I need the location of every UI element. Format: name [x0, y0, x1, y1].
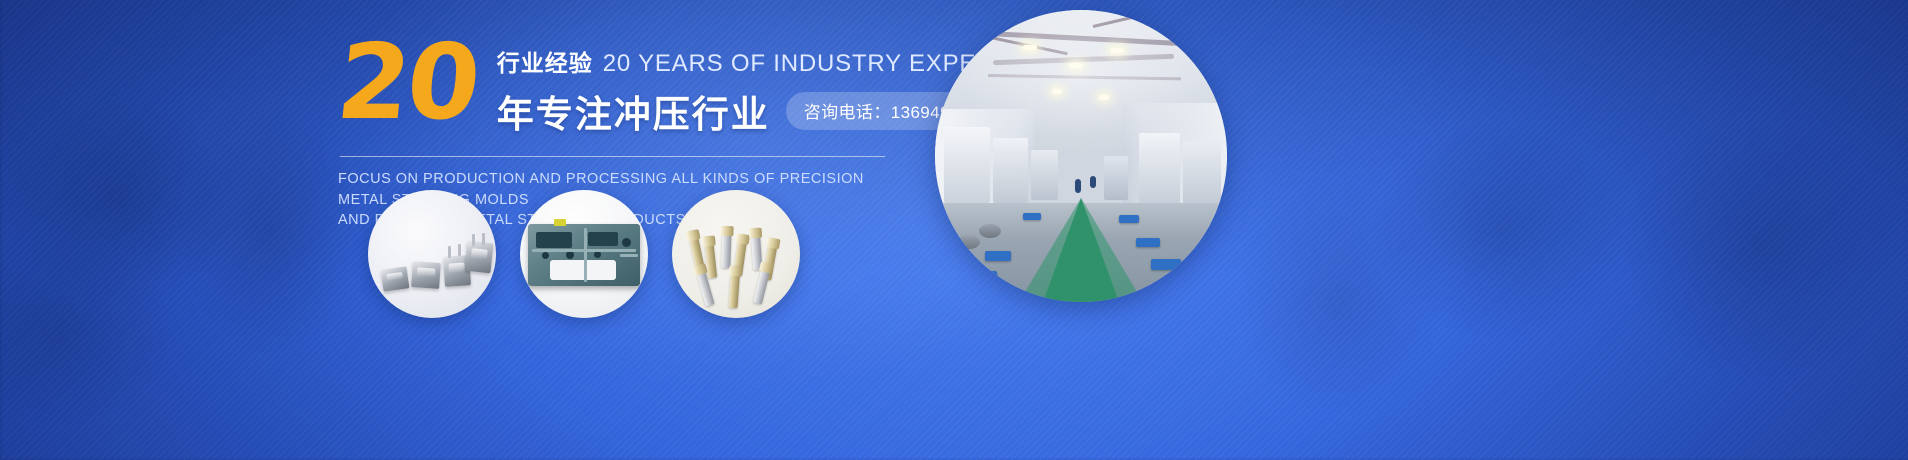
mold-hole: [566, 251, 574, 259]
mold-hole: [542, 252, 549, 259]
product-image-row: [368, 190, 800, 318]
factory-light-glare: [935, 10, 1227, 302]
terminal-pin: [729, 266, 741, 309]
mold-rail: [620, 254, 638, 257]
terminal-pin: [721, 226, 731, 268]
mold-hole: [622, 238, 631, 247]
mold-body: [528, 224, 640, 286]
product-circle-connectors: [368, 190, 496, 318]
mold-slot: [536, 232, 572, 248]
headline-row: 20 行业经验 20 YEARS OF INDUSTRY EXPERIENCE …: [338, 36, 918, 138]
years-number: 20: [333, 38, 481, 127]
product-circle-mold: [520, 190, 648, 318]
headline-chinese: 年专注冲压行业: [497, 84, 770, 138]
mold-rail: [584, 228, 587, 282]
connector-pin: [458, 244, 461, 256]
mold-tab: [554, 219, 566, 226]
connector-pin: [472, 234, 475, 246]
product-circle-terminals: [672, 190, 800, 318]
connector-part: [381, 266, 410, 291]
mold-hole: [594, 251, 601, 258]
connector-part: [465, 241, 494, 274]
connector-pin: [448, 246, 451, 258]
tagline-chinese: 行业经验: [497, 44, 593, 78]
connector-part: [411, 261, 441, 289]
promo-banner: 20 行业经验 20 YEARS OF INDUSTRY EXPERIENCE …: [0, 0, 1908, 460]
mold-slot: [588, 232, 618, 246]
divider-line: [340, 156, 885, 157]
mold-cavity: [550, 260, 616, 280]
factory-circle: [935, 10, 1227, 302]
connector-pin: [482, 233, 485, 245]
